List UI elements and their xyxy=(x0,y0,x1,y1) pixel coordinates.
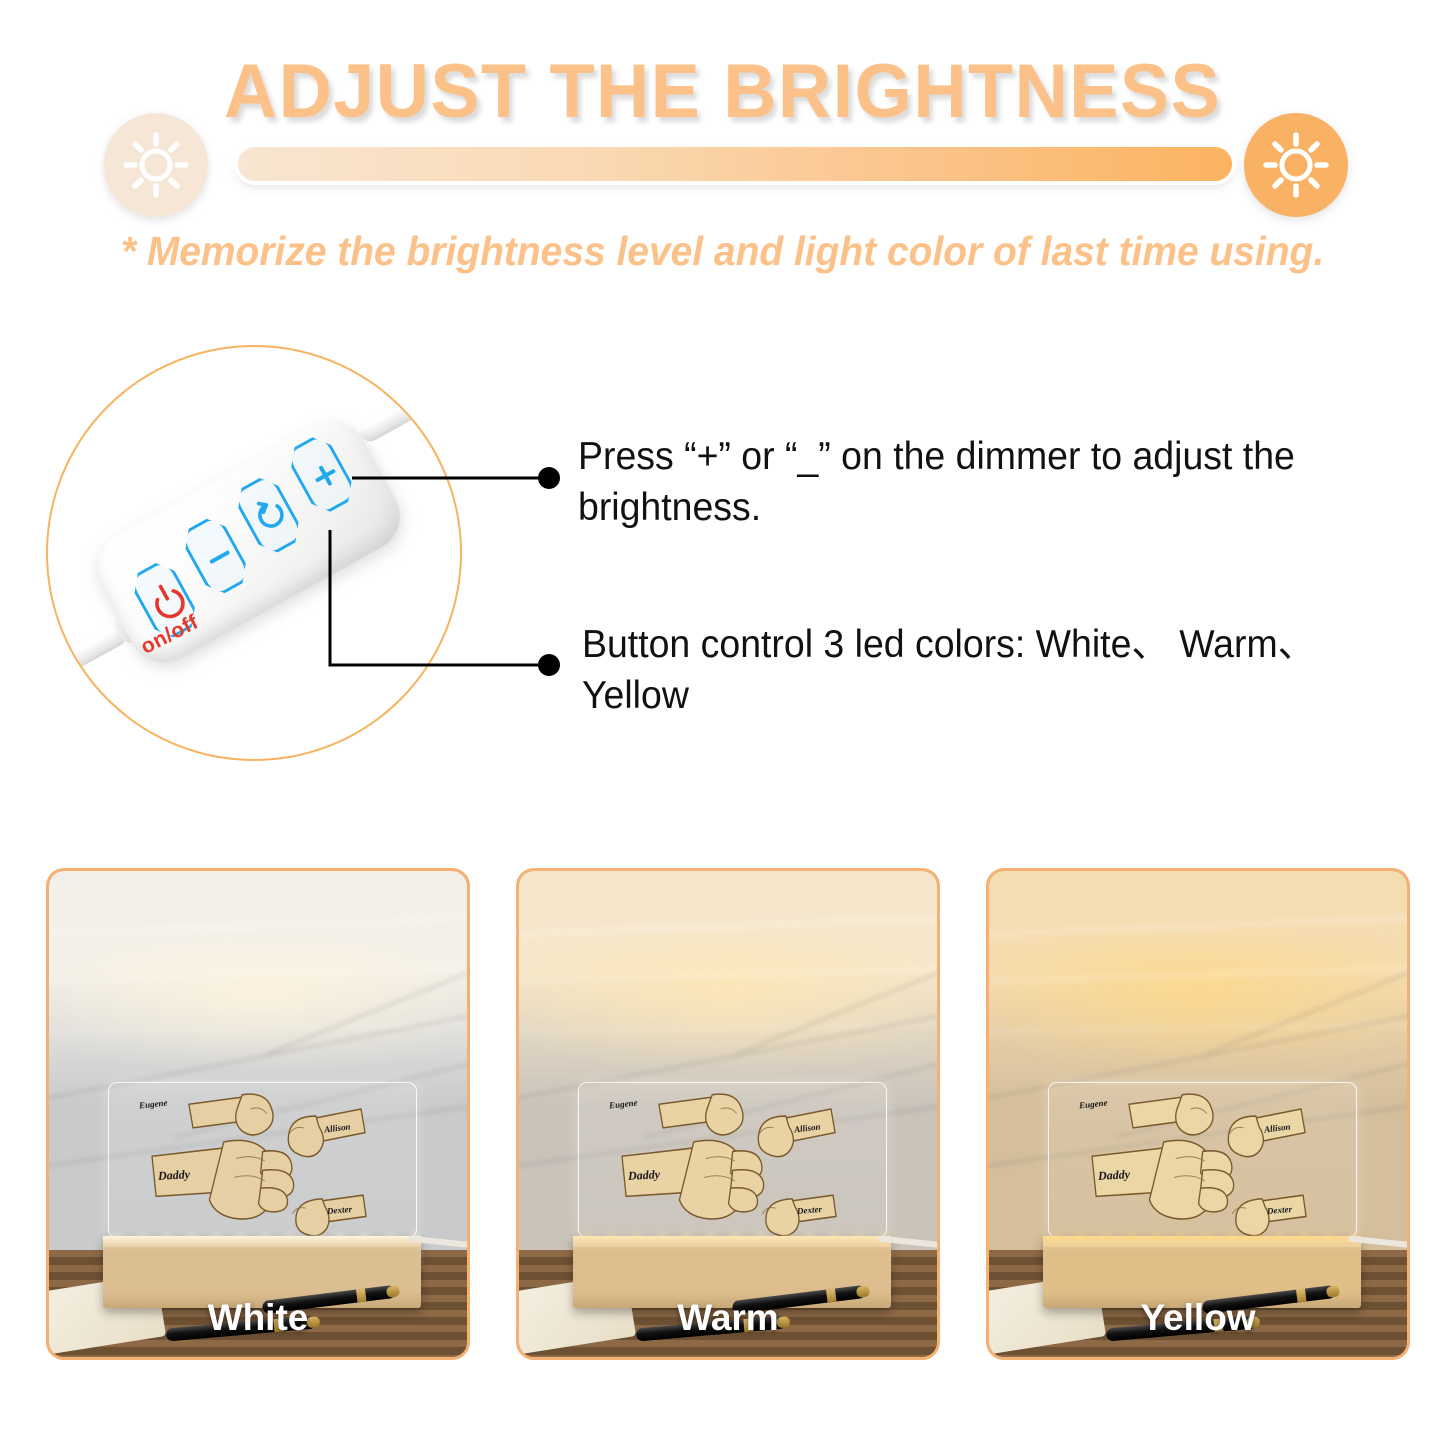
plaque-name-lower-left: Daddy xyxy=(1097,1167,1130,1184)
callout-dot-1 xyxy=(538,467,560,489)
photo-panel-yellow[interactable]: EugeneAllisonDaddyDexter Yellow xyxy=(986,868,1410,1360)
memorize-note: * Memorize the brightness level and ligh… xyxy=(36,228,1409,275)
photo-panel-warm[interactable]: EugeneAllisonDaddyDexter Warm xyxy=(516,868,940,1360)
base-top-edge xyxy=(103,1236,421,1248)
callout-leaders xyxy=(0,300,1445,840)
wall-light-band xyxy=(986,939,1410,1068)
acrylic-plaque: EugeneAllisonDaddyDexter xyxy=(108,1082,417,1238)
brightness-high-badge[interactable] xyxy=(1244,113,1348,217)
led-color-gallery: EugeneAllisonDaddyDexter White EugeneAll… xyxy=(0,868,1445,1368)
plaque-name-lower-left: Daddy xyxy=(157,1167,190,1184)
callout-dot-2 xyxy=(538,654,560,676)
wall-streak xyxy=(986,915,1410,938)
scene: EugeneAllisonDaddyDexter xyxy=(989,871,1407,1357)
panel-caption: Yellow xyxy=(989,1297,1407,1339)
panel-caption: White xyxy=(49,1297,467,1339)
acrylic-plaque: EugeneAllisonDaddyDexter xyxy=(578,1082,887,1238)
base-top-edge xyxy=(1043,1236,1361,1248)
plaque-name-lower-left: Daddy xyxy=(627,1167,660,1184)
plaque-name-lower-right: Dexter xyxy=(796,1204,822,1216)
plaque-name-lower-right: Dexter xyxy=(1266,1204,1292,1216)
acrylic-plaque: EugeneAllisonDaddyDexter xyxy=(1048,1082,1357,1238)
brightness-slider[interactable] xyxy=(238,147,1232,181)
wall-streak xyxy=(516,915,940,938)
page-title: ADJUST THE BRIGHTNESS xyxy=(22,48,1424,135)
brightness-low-badge[interactable] xyxy=(104,113,208,217)
photo-panel-white[interactable]: EugeneAllisonDaddyDexter White xyxy=(46,868,470,1360)
dimmer-section: on/off Press “+” or “_” on the dimmer to… xyxy=(0,300,1445,840)
scene: EugeneAllisonDaddyDexter xyxy=(49,871,467,1357)
callout-text-brightness: Press “+” or “_” on the dimmer to adjust… xyxy=(578,432,1365,533)
wall-light-band xyxy=(46,939,470,1068)
header-section: ADJUST THE BRIGHTNESS xyxy=(0,0,1445,300)
wall-streak xyxy=(46,915,470,938)
sun-icon xyxy=(104,113,208,217)
sun-icon xyxy=(1244,113,1348,217)
scene: EugeneAllisonDaddyDexter xyxy=(519,871,937,1357)
panel-caption: Warm xyxy=(519,1297,937,1339)
wall-light-band xyxy=(516,939,940,1068)
base-top-edge xyxy=(573,1236,891,1248)
plaque-name-lower-right: Dexter xyxy=(326,1204,352,1216)
callout-text-led-colors: Button control 3 led colors: White、 Warm… xyxy=(582,620,1388,721)
